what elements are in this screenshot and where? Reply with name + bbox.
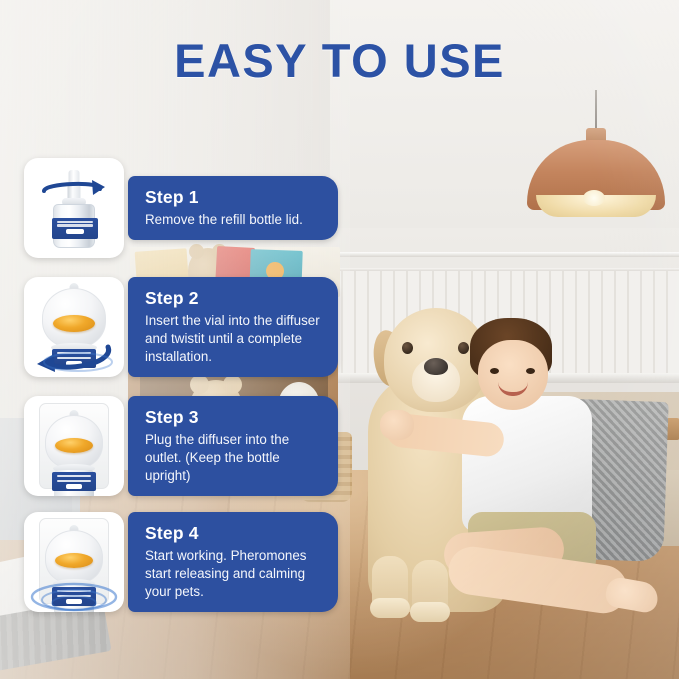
- step-4-thumbnail: [24, 512, 124, 612]
- diffuser-dome-with-twist-arrow-icon: [24, 277, 124, 377]
- dog-paw-left: [370, 598, 410, 618]
- step-3-thumbnail: [24, 396, 124, 496]
- dog-eye-left: [402, 342, 413, 354]
- step-1-body: Remove the refill bottle lid.: [145, 211, 324, 229]
- boy-eye-right: [526, 368, 535, 374]
- step-1-thumbnail: [24, 158, 124, 258]
- dog-paw-right: [410, 602, 450, 622]
- boy-eye-left: [490, 368, 499, 374]
- step-2-body: Insert the vial into the diffuser and tw…: [145, 312, 324, 365]
- pheromone-wave-rings-icon: [26, 578, 122, 612]
- pendant-lamp-bulb: [583, 190, 605, 206]
- page-title: EASY TO USE: [0, 33, 679, 88]
- diffuser-plugged-into-outlet-icon: [24, 396, 124, 496]
- twist-arrow-icon: [30, 337, 118, 375]
- pendant-lamp-cord: [595, 90, 597, 132]
- step-2-heading: Step 2: [145, 288, 324, 309]
- boy-face: [478, 340, 548, 410]
- step-row-2: Step 2 Insert the vial into the diffuser…: [24, 277, 338, 377]
- step-row-1: Step 1 Remove the refill bottle lid.: [24, 158, 338, 258]
- step-3-card: Step 3 Plug the diffuser into the outlet…: [128, 396, 338, 496]
- step-3-body: Plug the diffuser into the outlet. (Keep…: [145, 431, 324, 484]
- step-1-heading: Step 1: [145, 187, 324, 208]
- step-row-4: Step 4 Start working. Pheromones start r…: [24, 512, 338, 612]
- wall-trim-upper: [330, 252, 679, 257]
- step-2-thumbnail: [24, 277, 124, 377]
- step-row-3: Step 3 Plug the diffuser into the outlet…: [24, 396, 338, 496]
- step-4-body: Start working. Pheromones start releasin…: [145, 547, 324, 600]
- step-4-heading: Step 4: [145, 523, 324, 544]
- step-1-card: Step 1 Remove the refill bottle lid.: [128, 176, 338, 241]
- step-3-heading: Step 3: [145, 407, 324, 428]
- refill-bottle-with-rotate-arrow-icon: [24, 158, 124, 258]
- step-2-card: Step 2 Insert the vial into the diffuser…: [128, 277, 338, 377]
- boy-hand: [380, 410, 414, 440]
- rotate-arrow-icon: [38, 178, 110, 204]
- dog-eye-right: [458, 342, 469, 354]
- dog-nose: [424, 358, 448, 375]
- step-4-card: Step 4 Start working. Pheromones start r…: [128, 512, 338, 612]
- diffuser-emitting-pheromone-waves-icon: [24, 512, 124, 612]
